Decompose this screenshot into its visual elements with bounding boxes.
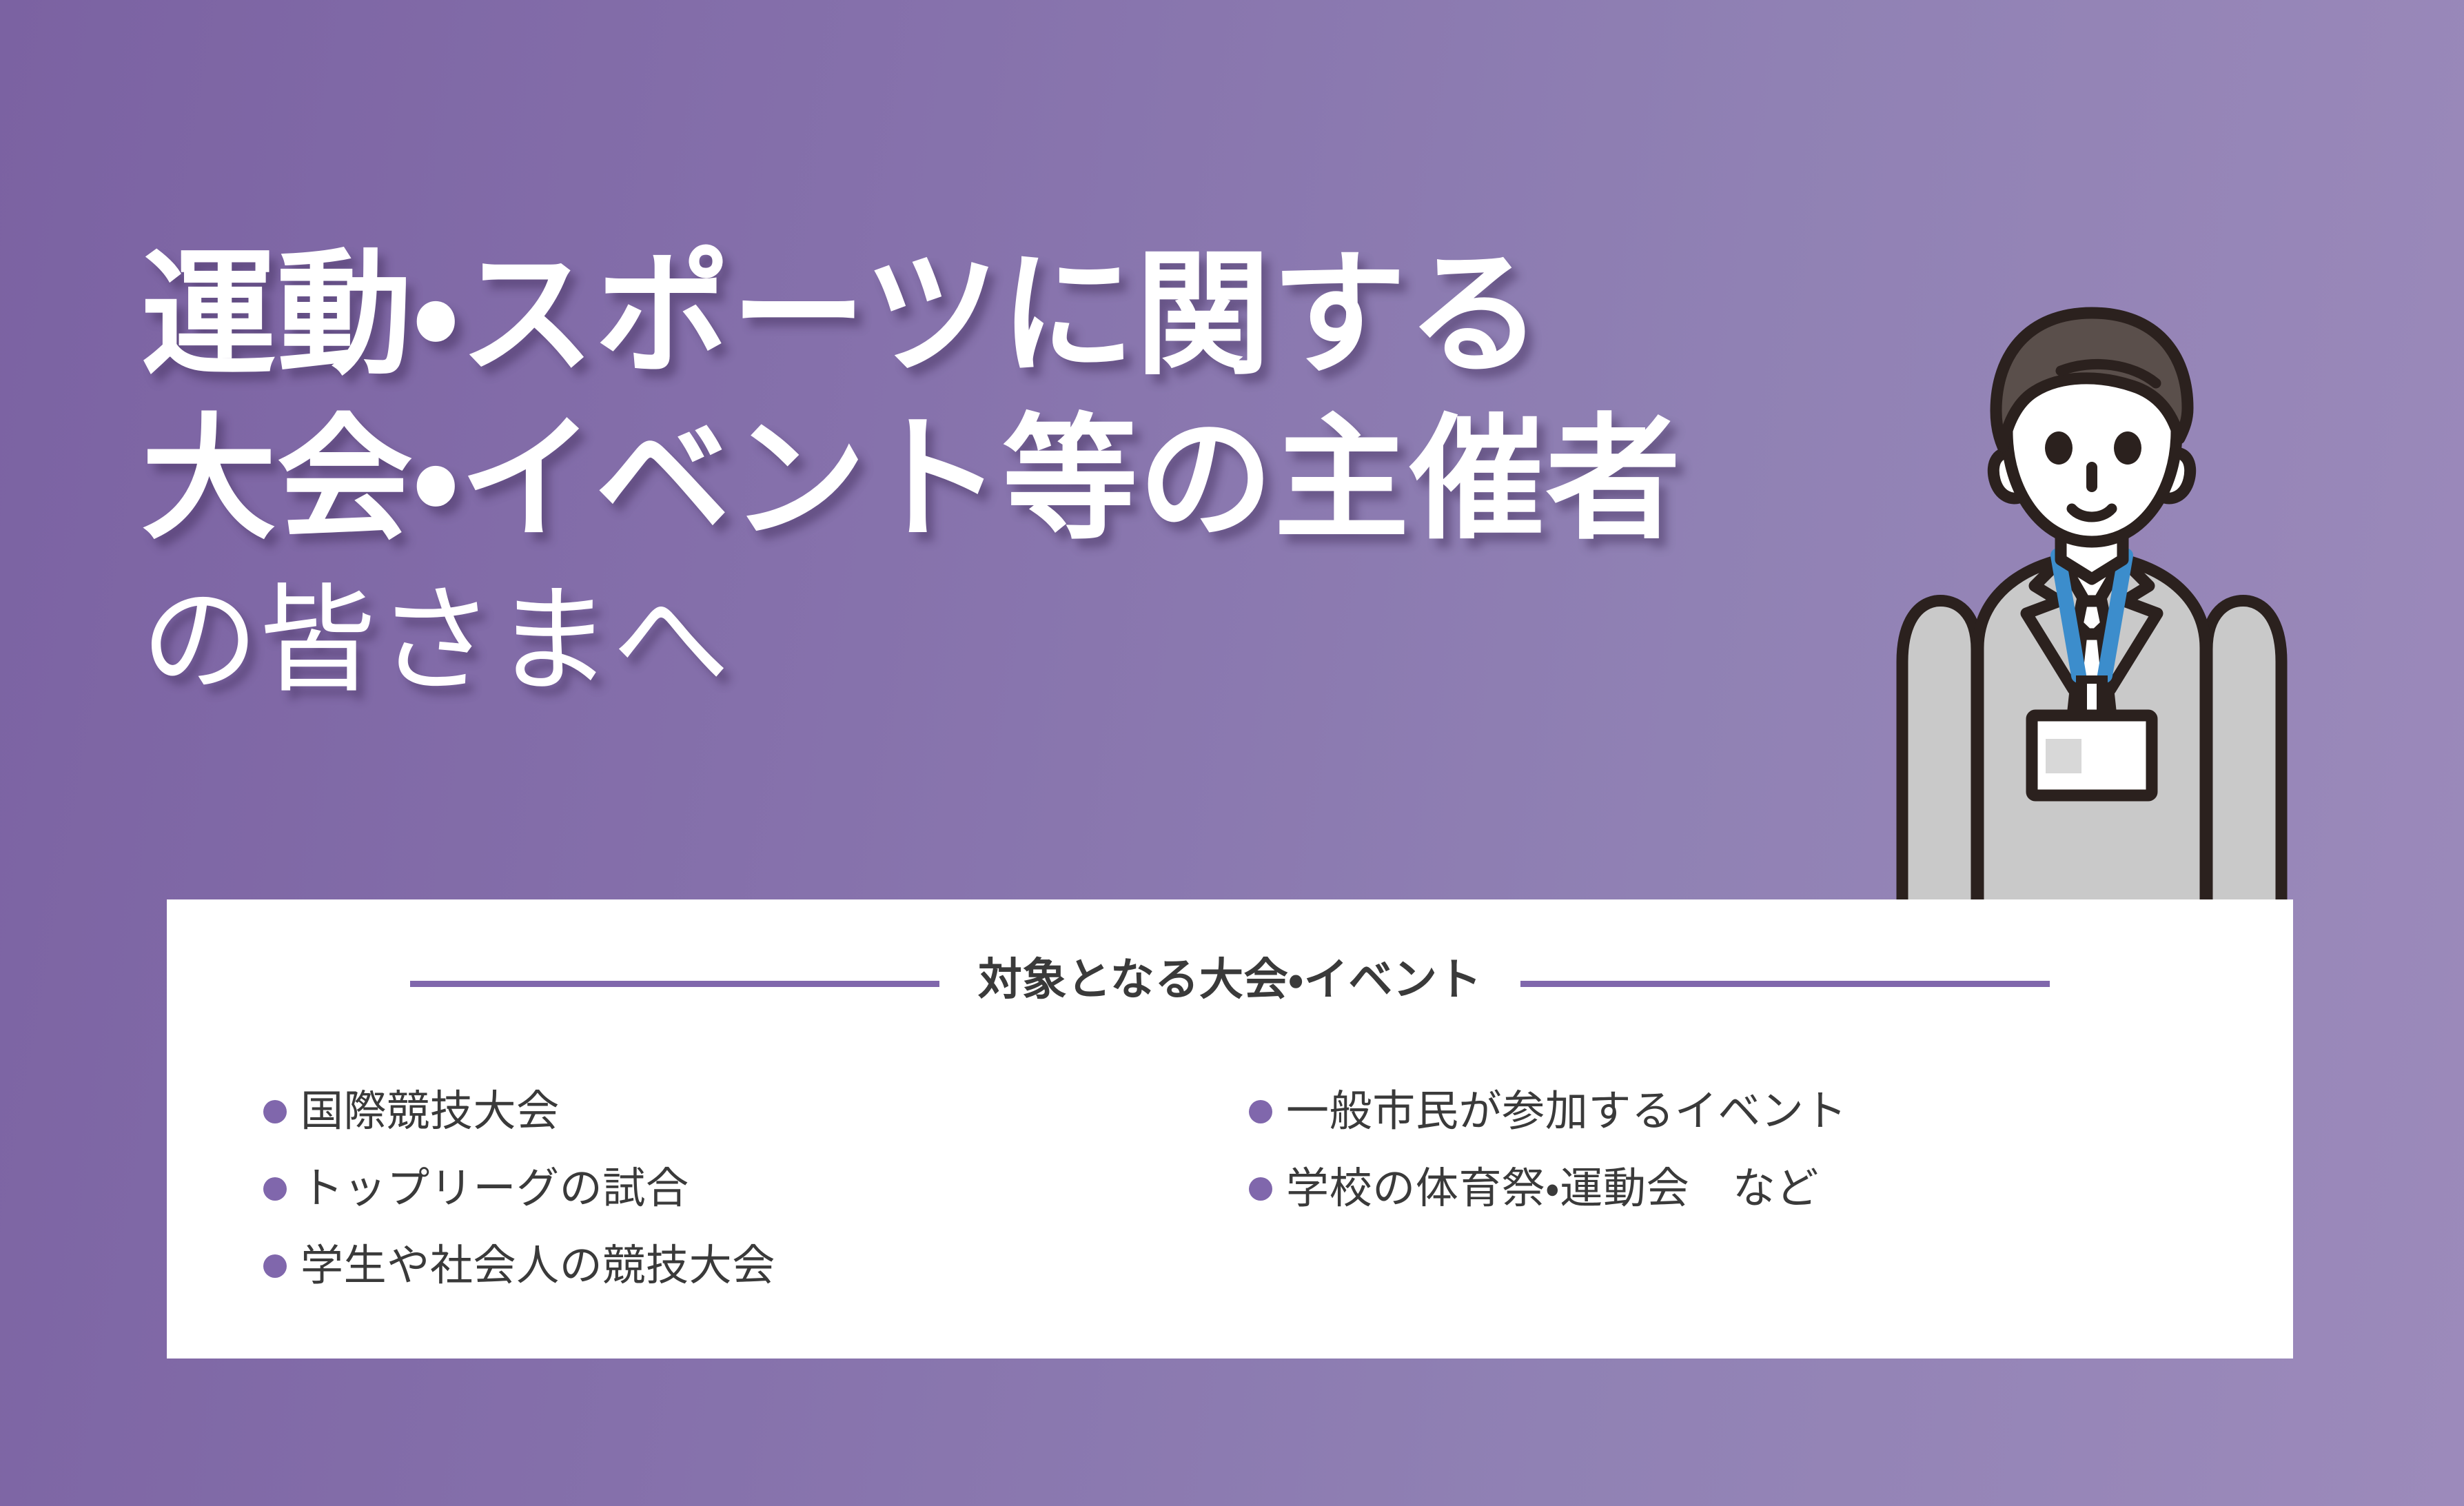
info-card: 対象となる大会・イベント 国際競技大会 トップリーグの試合 学生や社会人の競技大…	[167, 899, 2293, 1359]
list-item: 学校の体育祭・運動会 など	[1249, 1150, 2166, 1228]
headline-line-1: 運動・スポーツに関する	[141, 227, 1830, 403]
list-item: 一般市民が参加するイベント	[1249, 1073, 2166, 1150]
bullet-dot-icon	[1249, 1177, 1272, 1201]
page-title: 運動・スポーツに関する 大会・イベント等の主催者 の皆さまへ	[141, 227, 1830, 718]
list-item: 国際競技大会	[263, 1073, 1111, 1150]
list-item-label: 学生や社会人の競技大会	[301, 1245, 775, 1288]
list-item: トップリーグの試合	[263, 1150, 1111, 1228]
bullet-dot-icon	[263, 1177, 287, 1201]
list-item-label: 学校の体育祭・運動会 など	[1286, 1168, 1819, 1210]
divider-rule-right	[1520, 981, 2050, 987]
bullet-column-left: 国際競技大会 トップリーグの試合 学生や社会人の競技大会	[263, 1073, 1111, 1305]
list-item-label: トップリーグの試合	[301, 1168, 689, 1210]
bullet-column-right: 一般市民が参加するイベント 学校の体育祭・運動会 など	[1249, 1073, 2166, 1305]
poster-canvas: 運動・スポーツに関する 大会・イベント等の主催者 の皆さまへ	[0, 0, 2464, 1506]
headline-line-2: 大会・イベント等の主催者	[141, 392, 1830, 568]
list-item-label: 国際競技大会	[301, 1090, 560, 1133]
bullet-dot-icon	[263, 1100, 287, 1123]
card-body: 国際競技大会 トップリーグの試合 学生や社会人の競技大会 一般市民が参加するイベ…	[263, 1073, 2238, 1305]
bullet-dot-icon	[263, 1254, 287, 1278]
card-header: 対象となる大会・イベント	[167, 956, 2293, 1011]
bullet-dot-icon	[1249, 1100, 1272, 1123]
headline-line-3: の皆さまへ	[141, 565, 1830, 718]
divider-rule-left	[410, 981, 939, 987]
businessman-illustration	[1854, 289, 2330, 903]
card-title: 対象となる大会・イベント	[978, 957, 1483, 1001]
list-item: 学生や社会人の競技大会	[263, 1228, 1111, 1305]
list-item-label: 一般市民が参加するイベント	[1286, 1090, 1847, 1133]
